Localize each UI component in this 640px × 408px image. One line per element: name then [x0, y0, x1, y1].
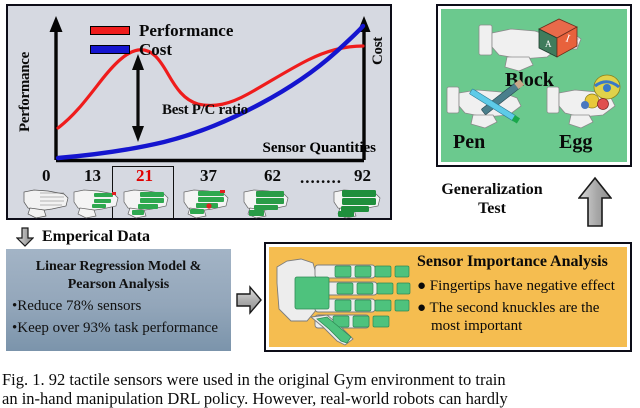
plot-area: Performance Cost Best P/C ratio Sensor Q…: [34, 12, 386, 164]
linear-regression-title-line2: Pearson Analysis: [12, 276, 225, 294]
secondary-y-axis: [358, 16, 371, 160]
legend-label-performance: Performance: [139, 22, 233, 39]
empirical-data-label: Emperical Data: [42, 228, 150, 246]
y-axis-label: Performance: [16, 26, 34, 158]
secondary-axis-label: Cost: [370, 20, 388, 82]
hand-icon-13-sensors: [68, 184, 124, 220]
tick-label-0: 0: [42, 166, 51, 186]
sensor-importance-bullet-2: ● The second knuckles are the most impor…: [417, 299, 599, 335]
x-tick-labels: 0 13 21 37 62 ........ 92: [14, 166, 388, 186]
linear-regression-panel: Linear Regression Model & Pearson Analys…: [6, 249, 231, 351]
legend-swatch-performance: [90, 26, 130, 35]
tick-label-13: 13: [84, 166, 101, 186]
legend-swatch-cost: [90, 45, 130, 54]
hand-icon-62-sensors: [238, 184, 294, 220]
robot-hand-sensor-map-image: [271, 249, 413, 349]
linear-regression-bullet-1: •Reduce 78% sensors: [12, 296, 225, 316]
hand-thumbnail-strip: [12, 184, 390, 220]
linear-regression-bullet-2: •Keep over 93% task performance: [12, 318, 225, 338]
task-label-pen: Pen: [453, 131, 485, 154]
performance-cost-chart-panel: Performance Cost Best P/C ratio Sensor Q…: [6, 4, 392, 220]
linear-regression-title: Linear Regression Model & Pearson Analys…: [12, 258, 225, 294]
tick-label-92: 92: [354, 166, 371, 186]
task-label-egg: Egg: [559, 131, 592, 154]
svg-text:A: A: [545, 39, 552, 49]
generalization-caption-line2: Test: [432, 199, 552, 218]
x-axis-label: Sensor Quantities: [263, 140, 377, 157]
best-pc-ratio-arrow: [132, 54, 144, 142]
hand-icon-92-sensors: [328, 184, 386, 220]
generalization-test-panel: I A Block: [436, 4, 632, 167]
generalization-caption-line1: Generalization: [432, 180, 552, 199]
up-arrow-icon: [578, 176, 612, 228]
chart-legend: Performance Cost: [90, 22, 233, 60]
pen-task-image: [445, 73, 547, 139]
y-axis: [50, 16, 63, 160]
generalization-panel-inner: I A Block: [441, 9, 627, 162]
legend-label-cost: Cost: [139, 41, 172, 58]
hand-icon-21-sensors: [118, 184, 174, 220]
sensor-importance-bullet-1: ● Fingertips have negative effect: [417, 277, 615, 295]
tick-label-62: 62: [264, 166, 281, 186]
tick-label-37: 37: [200, 166, 217, 186]
down-arrow-icon: [16, 227, 34, 247]
sensor-importance-panel: Sensor Importance Analysis ● Fingertips …: [264, 242, 632, 352]
hand-icon-37-sensors: [178, 184, 234, 220]
caption-line-2: an in-hand manipulation DRL policy. Howe…: [2, 389, 640, 408]
legend-item-cost: Cost: [90, 41, 233, 58]
empirical-data-row: Emperical Data: [16, 226, 236, 248]
linear-regression-title-line1: Linear Regression Model &: [12, 258, 225, 276]
right-arrow-icon: [236, 285, 262, 315]
best-pc-ratio-label: Best P/C ratio: [162, 102, 248, 119]
sensor-importance-bullet-2-line2: most important: [417, 317, 599, 335]
legend-item-performance: Performance: [90, 22, 233, 39]
sensor-importance-title: Sensor Importance Analysis: [417, 253, 608, 271]
figure-caption: Fig. 1. 92 tactile sensors were used in …: [2, 370, 640, 408]
egg-task-image: [545, 73, 631, 139]
sensor-importance-bullet-2-line1: ● The second knuckles are the: [417, 299, 599, 317]
sensor-importance-panel-inner: Sensor Importance Analysis ● Fingertips …: [269, 247, 627, 347]
generalization-test-caption: Generalization Test: [432, 180, 552, 218]
hand-icon-0-sensors: [18, 184, 74, 220]
figure-root: Performance Cost Best P/C ratio Sensor Q…: [0, 0, 640, 408]
caption-line-1: Fig. 1. 92 tactile sensors were used in …: [2, 370, 640, 389]
